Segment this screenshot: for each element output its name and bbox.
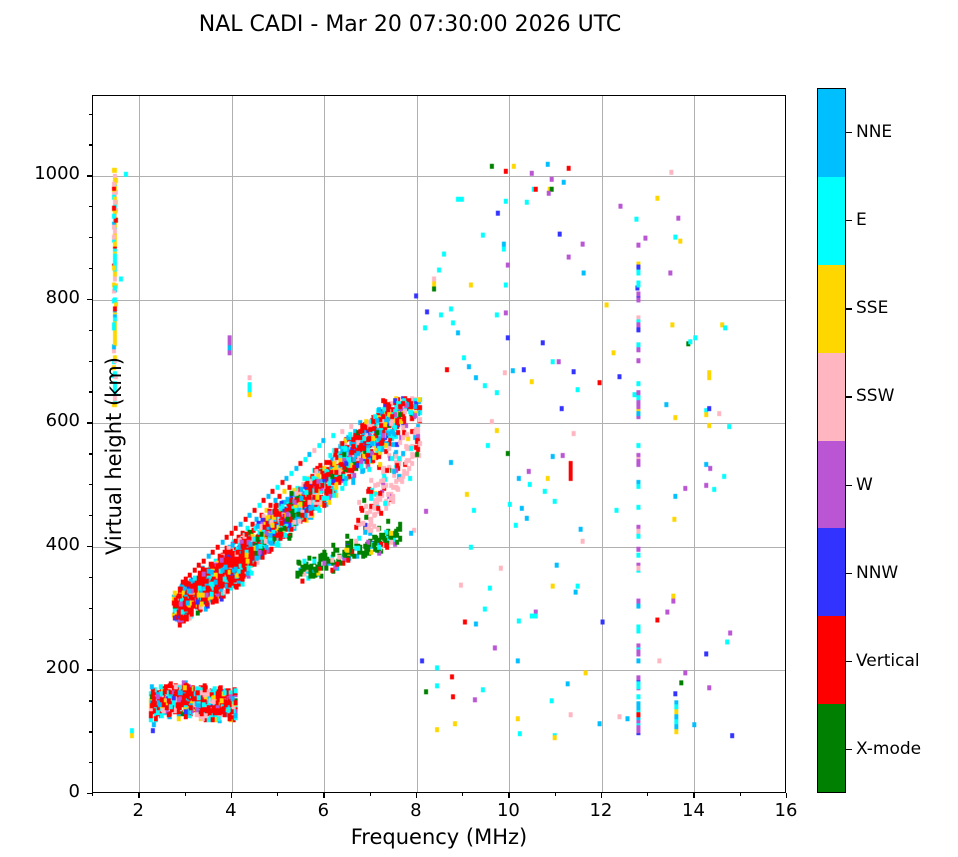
y-minor-tick xyxy=(89,484,92,485)
colorbar-tick xyxy=(846,132,852,133)
y-axis-label: Virtual height (km) xyxy=(102,107,126,805)
y-tick-mark xyxy=(87,299,92,300)
y-minor-tick xyxy=(89,577,92,578)
azimuth-colorbar[interactable] xyxy=(817,88,846,793)
x-minor-tick xyxy=(92,793,93,796)
colorbar-segment-e[interactable] xyxy=(818,177,845,265)
y-tick-label: 0 xyxy=(10,781,80,802)
colorbar-segment-x-mode[interactable] xyxy=(818,704,845,792)
colorbar-tick xyxy=(846,308,852,309)
colorbar-tick xyxy=(846,661,852,662)
x-tick-mark xyxy=(508,793,509,798)
colorbar-label-e: E xyxy=(856,210,867,230)
x-minor-tick xyxy=(555,793,556,796)
x-tick-mark xyxy=(416,793,417,798)
x-tick-label: 8 xyxy=(396,800,436,821)
plot-area[interactable] xyxy=(92,95,786,793)
colorbar-tick xyxy=(846,396,852,397)
y-tick-mark xyxy=(87,175,92,176)
y-minor-tick xyxy=(89,330,92,331)
y-tick-mark xyxy=(87,546,92,547)
colorbar-label-vertical: Vertical xyxy=(856,651,920,671)
colorbar-segment-ssw[interactable] xyxy=(818,353,845,441)
colorbar-segment-nne[interactable] xyxy=(818,89,845,177)
y-minor-tick xyxy=(89,762,92,763)
y-tick-mark xyxy=(87,422,92,423)
y-minor-tick xyxy=(89,515,92,516)
x-tick-label: 4 xyxy=(211,800,251,821)
colorbar-label-nnw: NNW xyxy=(856,563,898,583)
y-minor-tick xyxy=(89,268,92,269)
x-tick-label: 16 xyxy=(766,800,806,821)
y-minor-tick xyxy=(89,639,92,640)
y-tick-label: 800 xyxy=(10,287,80,308)
y-minor-tick xyxy=(89,608,92,609)
x-axis-label: Frequency (MHz) xyxy=(92,825,786,849)
x-minor-tick xyxy=(647,793,648,796)
colorbar-tick xyxy=(846,485,852,486)
x-minor-tick xyxy=(370,793,371,796)
y-tick-label: 400 xyxy=(10,534,80,555)
y-tick-label: 200 xyxy=(10,657,80,678)
colorbar-segment-nnw[interactable] xyxy=(818,528,845,616)
colorbar-label-ssw: SSW xyxy=(856,386,894,406)
colorbar-segment-vertical[interactable] xyxy=(818,616,845,704)
y-tick-label: 1000 xyxy=(10,163,80,184)
x-tick-mark xyxy=(138,793,139,798)
y-minor-tick xyxy=(89,453,92,454)
page-title: NAL CADI - Mar 20 07:30:00 2026 UTC xyxy=(0,12,820,37)
colorbar-label-w: W xyxy=(856,475,873,495)
colorbar-label-sse: SSE xyxy=(856,298,888,318)
x-tick-mark xyxy=(693,793,694,798)
scatter-data-canvas xyxy=(93,96,785,792)
y-minor-tick xyxy=(89,114,92,115)
colorbar-tick xyxy=(846,220,852,221)
x-minor-tick xyxy=(277,793,278,796)
y-tick-mark xyxy=(87,669,92,670)
x-tick-mark xyxy=(786,793,787,798)
colorbar-segment-sse[interactable] xyxy=(818,265,845,353)
y-tick-label: 600 xyxy=(10,410,80,431)
ionogram-figure: NAL CADI - Mar 20 07:30:00 2026 UTC 2468… xyxy=(0,0,958,857)
y-minor-tick xyxy=(89,700,92,701)
x-tick-mark xyxy=(231,793,232,798)
x-tick-label: 6 xyxy=(303,800,343,821)
y-minor-tick xyxy=(89,206,92,207)
x-minor-tick xyxy=(740,793,741,796)
x-minor-tick xyxy=(462,793,463,796)
colorbar-label-nne: NNE xyxy=(856,122,892,142)
colorbar-tick xyxy=(846,573,852,574)
colorbar-label-x-mode: X-mode xyxy=(856,739,921,759)
x-tick-label: 10 xyxy=(488,800,528,821)
colorbar-tick xyxy=(846,749,852,750)
y-minor-tick xyxy=(89,361,92,362)
x-tick-mark xyxy=(323,793,324,798)
x-tick-label: 14 xyxy=(673,800,713,821)
x-minor-tick xyxy=(185,793,186,796)
x-tick-mark xyxy=(601,793,602,798)
y-minor-tick xyxy=(89,391,92,392)
x-tick-label: 12 xyxy=(581,800,621,821)
y-minor-tick xyxy=(89,731,92,732)
y-minor-tick xyxy=(89,144,92,145)
y-minor-tick xyxy=(89,237,92,238)
colorbar-segment-w[interactable] xyxy=(818,441,845,529)
